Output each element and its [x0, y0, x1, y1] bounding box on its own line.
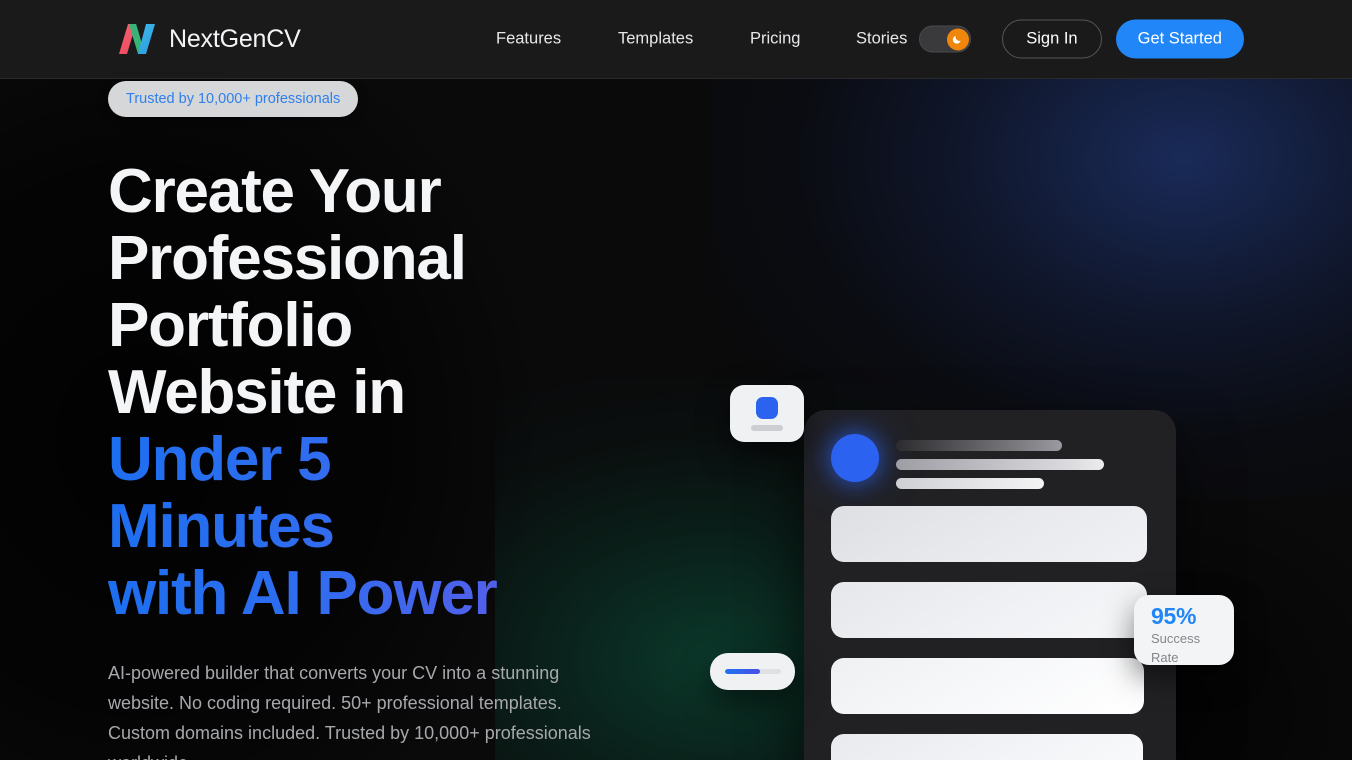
hero-mockup: 95% Success Rate [700, 319, 1300, 760]
nav-link-templates[interactable]: Templates [618, 30, 750, 49]
headline-line-6: Minutes [108, 493, 728, 560]
success-rate-value: 95% [1151, 604, 1234, 629]
hero-section: Trusted by 10,000+ professionals Create … [0, 79, 1352, 760]
brand-name: NextGenCV [169, 25, 301, 54]
moon-icon [952, 34, 963, 45]
nav-link-features[interactable]: Features [496, 30, 618, 49]
headline-line-4: Website in [108, 359, 728, 426]
mockup-row [831, 658, 1144, 714]
nav-actions: Sign In Get Started [919, 20, 1244, 59]
hero-headline: Create Your Professional Portfolio Websi… [108, 158, 728, 627]
sign-in-button[interactable]: Sign In [1002, 20, 1101, 59]
template-placeholder-bar [751, 425, 783, 431]
mockup-header-line-3 [896, 478, 1044, 489]
mockup-content-rows [831, 506, 1149, 760]
mockup-row [831, 582, 1147, 638]
mockup-header-line-2 [896, 459, 1104, 470]
mockup-avatar [831, 434, 879, 482]
progress-bar-track [725, 669, 781, 674]
floating-card-template-icon [730, 385, 804, 442]
trusted-badge[interactable]: Trusted by 10,000+ professionals [108, 81, 358, 117]
headline-line-2: Professional [108, 225, 728, 292]
mockup-header-lines [896, 434, 1104, 489]
headline-line-5: Under 5 [108, 426, 728, 493]
mockup-card-header [831, 434, 1104, 489]
page-root: NextGenCV Features Templates Pricing Sto… [0, 0, 1352, 760]
theme-toggle-knob [947, 28, 969, 50]
mockup-row [831, 506, 1147, 562]
nextgencv-logo-icon [118, 23, 156, 55]
floating-card-success-rate: 95% Success Rate [1134, 595, 1234, 665]
mockup-row [831, 734, 1143, 760]
hero-subtext: AI-powered builder that converts your CV… [108, 658, 628, 760]
headline-line-3: Portfolio [108, 292, 728, 359]
mockup-header-line-1 [896, 440, 1062, 451]
theme-toggle-switch[interactable] [919, 26, 971, 53]
nav-link-pricing[interactable]: Pricing [750, 30, 856, 49]
mockup-main-card [804, 410, 1176, 760]
progress-bar-fill [725, 669, 761, 674]
get-started-button[interactable]: Get Started [1116, 20, 1244, 59]
nav-links: Features Templates Pricing Stories [496, 30, 907, 49]
success-rate-label-line2: Rate [1151, 648, 1199, 667]
headline-line-7: with AI Power [108, 560, 728, 627]
brand-logo[interactable]: NextGenCV [118, 23, 301, 55]
headline-line-1: Create Your [108, 158, 728, 225]
template-square-icon [756, 397, 778, 419]
hero-copy-column: Trusted by 10,000+ professionals Create … [108, 81, 728, 760]
top-navigation-bar: NextGenCV Features Templates Pricing Sto… [0, 0, 1352, 79]
nav-link-stories[interactable]: Stories [856, 30, 907, 49]
success-rate-label-line1: Success [1151, 629, 1199, 648]
